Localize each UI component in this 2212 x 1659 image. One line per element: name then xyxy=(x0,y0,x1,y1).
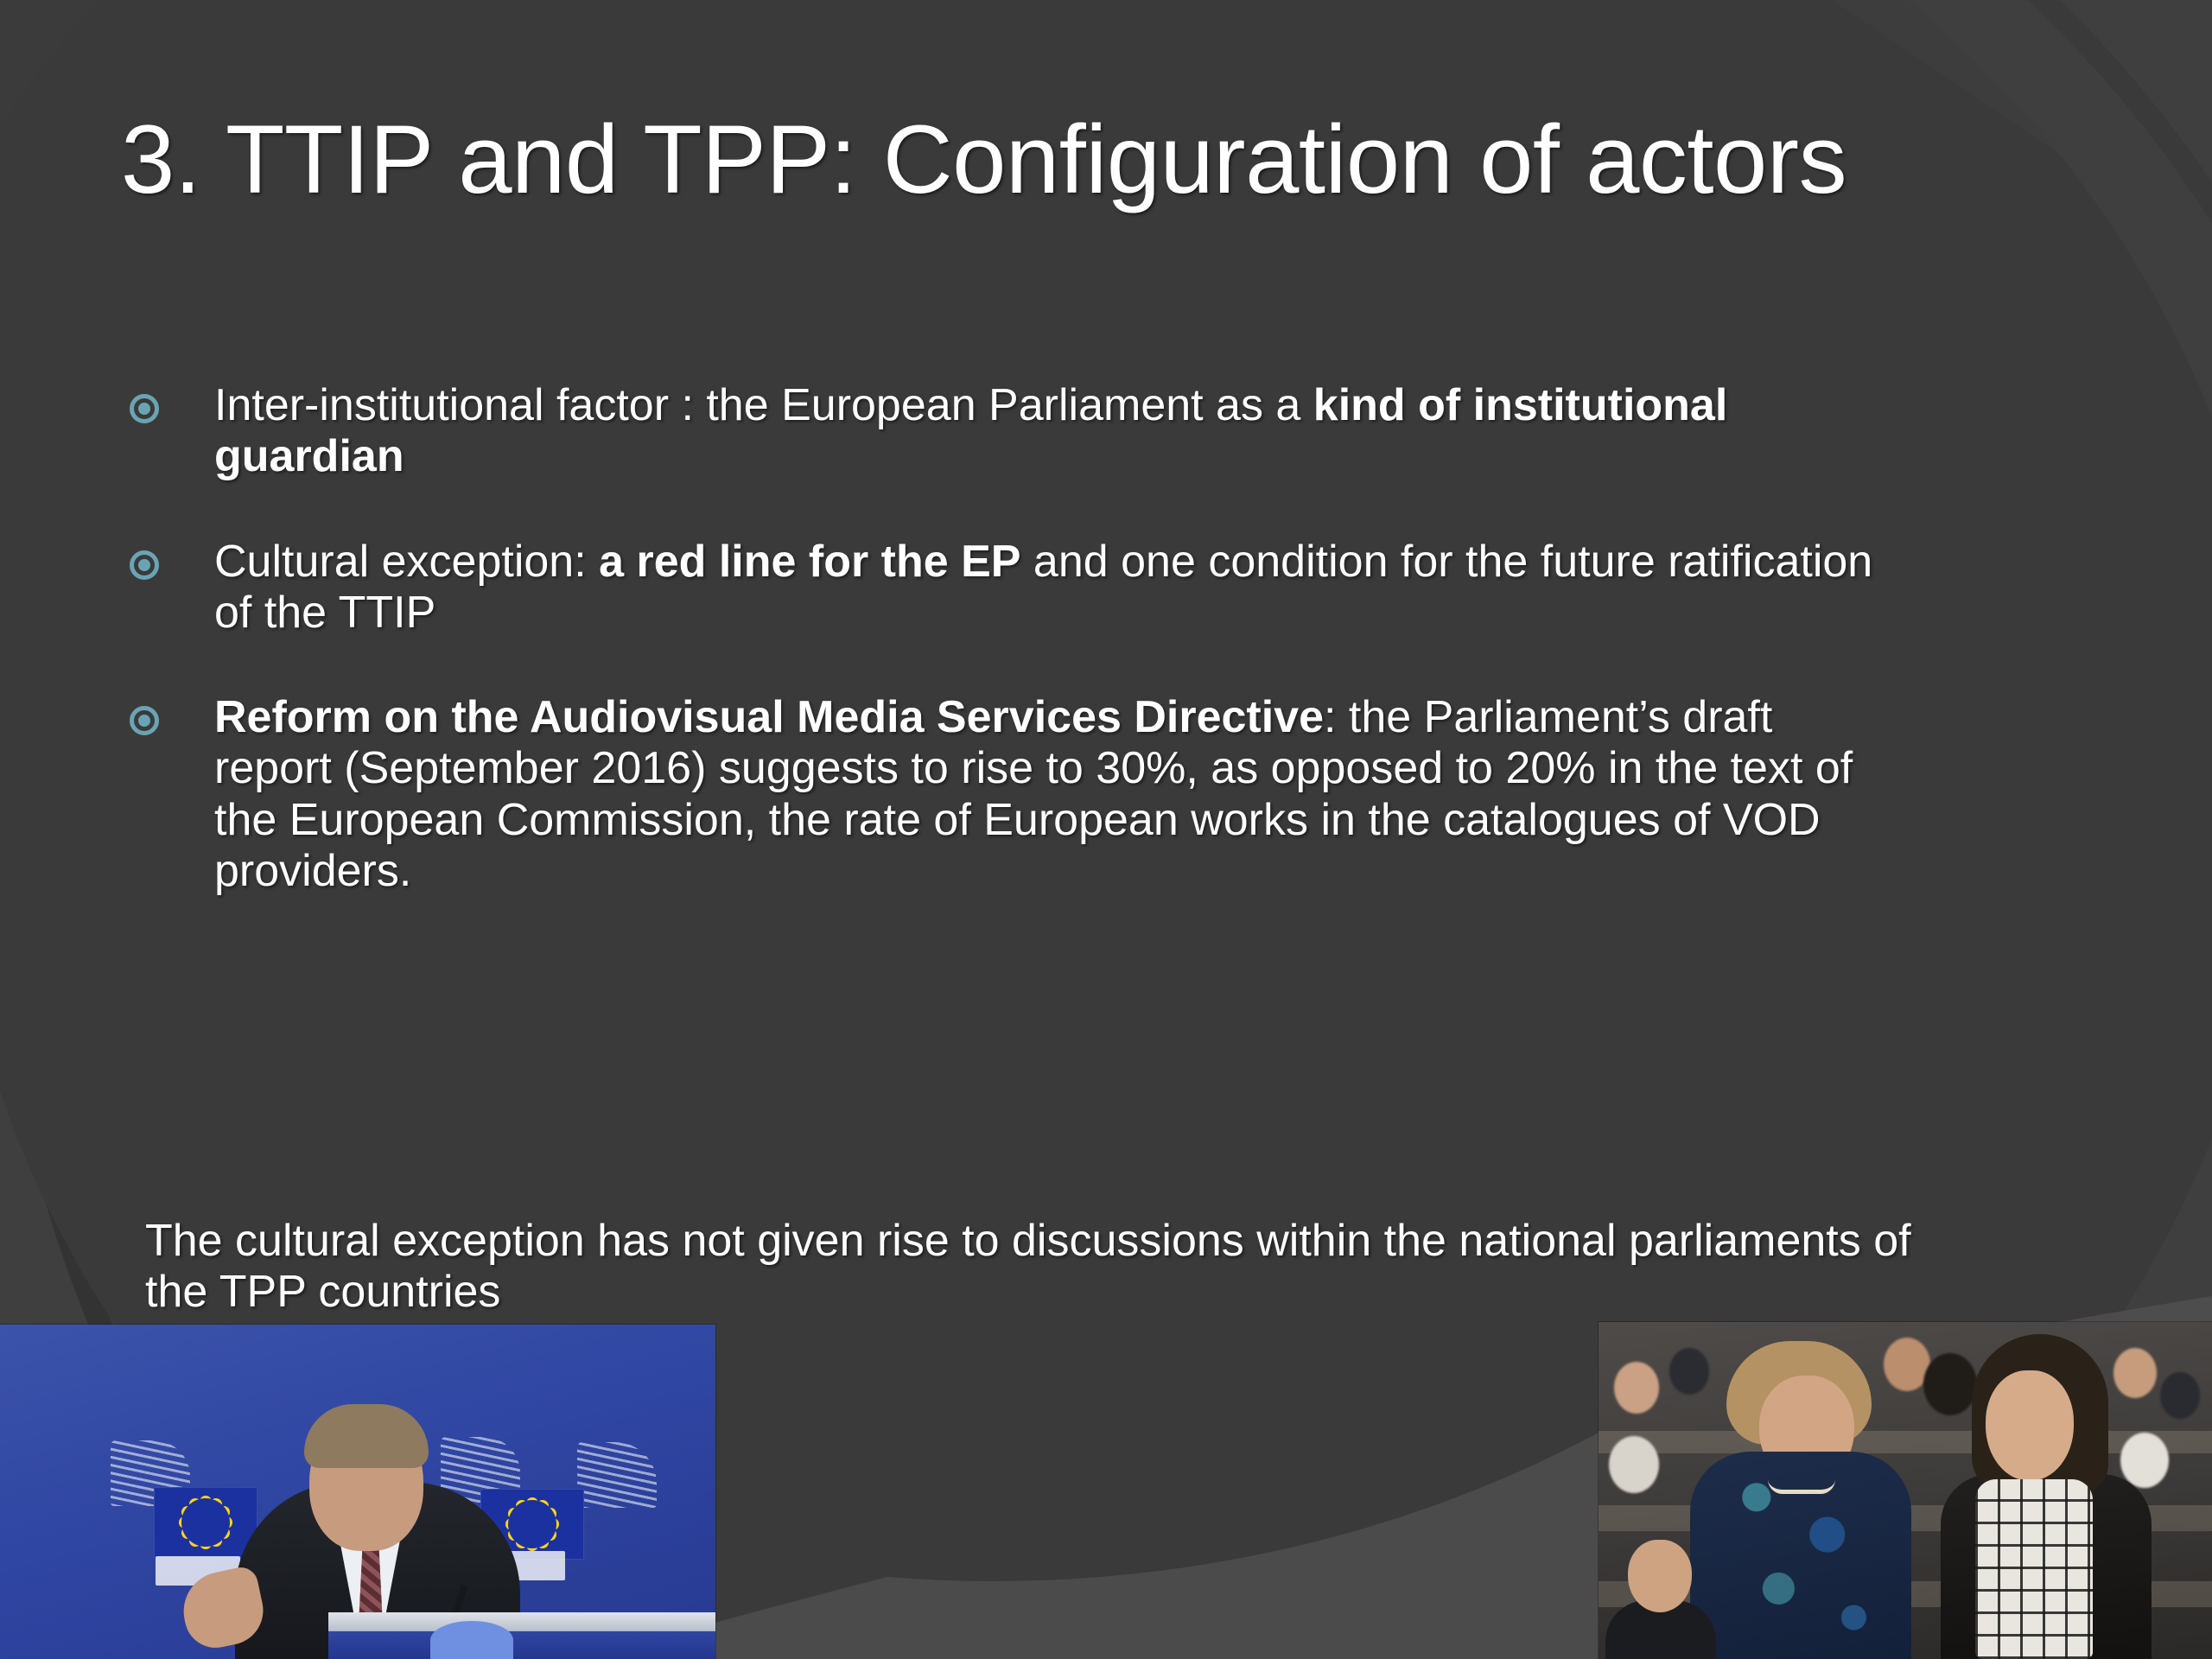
woman-right-scarf xyxy=(1975,1479,2093,1659)
slide-title: 3. TTIP and TPP: Configuration of actors xyxy=(121,110,1953,209)
crowd-person xyxy=(1614,1362,1659,1414)
list-item-text: Reform on the Audiovisual Media Services… xyxy=(214,692,1884,897)
bullet-marker xyxy=(130,380,214,423)
bullet-2-segment-2: a red line for the EP xyxy=(599,537,1020,587)
seated-man-head xyxy=(1628,1540,1692,1612)
eu-stars-left xyxy=(181,1498,230,1547)
crowd-person xyxy=(1923,1353,1977,1415)
bullet-marker xyxy=(130,692,214,735)
bullet-3-segment-1: Reform on the Audiovisual Media Services… xyxy=(214,692,1324,742)
speaker-hair xyxy=(304,1404,429,1468)
crowd-person xyxy=(2120,1433,2169,1488)
crowd-person xyxy=(1609,1436,1659,1493)
crowd-person xyxy=(2160,1372,2200,1419)
list-item: Cultural exception: a red line for the E… xyxy=(130,537,1884,639)
ec-logo-fan-far-right xyxy=(577,1442,657,1508)
woman-left-necklace xyxy=(1768,1479,1835,1494)
list-item-text: Cultural exception: a red line for the E… xyxy=(214,537,1884,639)
eu-stars-right xyxy=(508,1500,556,1548)
podium-logo xyxy=(430,1621,513,1659)
eu-flag-left xyxy=(154,1487,257,1558)
target-bullet-icon xyxy=(130,394,159,423)
european-parliament-members-photo xyxy=(1599,1322,2212,1659)
slide-body: Inter-institutional factor : the Europea… xyxy=(130,380,1884,897)
crowd-person xyxy=(2113,1348,2157,1398)
podium xyxy=(328,1612,715,1659)
bullet-1-segment-1: Inter-institutional factor : the Europea… xyxy=(214,380,1313,430)
chamber-desk-row-1 xyxy=(1599,1431,2212,1453)
woman-right-face xyxy=(1986,1370,2074,1481)
presentation-slide: 3. TTIP and TPP: Configuration of actors… xyxy=(0,0,2212,1659)
list-item: Reform on the Audiovisual Media Services… xyxy=(130,692,1884,897)
list-item-text: Inter-institutional factor : the Europea… xyxy=(214,380,1884,483)
closing-note: The cultural exception has not given ris… xyxy=(145,1216,1925,1319)
bullet-2-segment-1: Cultural exception: xyxy=(214,537,599,587)
crowd-person xyxy=(1669,1348,1709,1395)
eu-commissioner-press-conference-photo xyxy=(0,1325,715,1659)
target-bullet-icon xyxy=(130,706,159,735)
target-bullet-icon xyxy=(130,550,159,580)
bullet-marker xyxy=(130,537,214,580)
list-item: Inter-institutional factor : the Europea… xyxy=(130,380,1884,483)
